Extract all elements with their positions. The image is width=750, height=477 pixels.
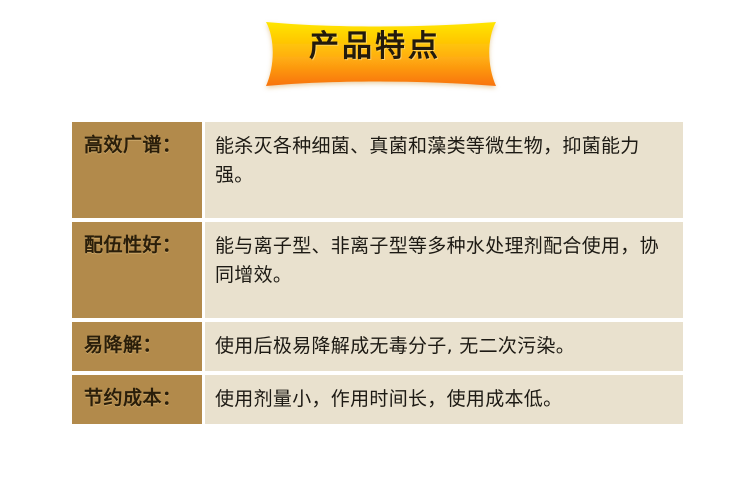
feature-label-2: 配伍性好： [72, 222, 205, 318]
feature-label-3: 易降解： [72, 322, 205, 371]
feature-text-2: 能与离子型、非离子型等多种水处理剂配合使用，协同增效。 [205, 222, 683, 318]
banner-ribbon-shape [0, 16, 750, 96]
feature-row-1: 高效广谱： 能杀灭各种细菌、真菌和藻类等微生物，抑菌能力强。 [72, 122, 683, 218]
feature-row-3: 易降解： 使用后极易降解成无毒分子, 无二次污染。 [72, 322, 683, 371]
feature-text-3: 使用后极易降解成无毒分子, 无二次污染。 [205, 322, 683, 371]
feature-row-2: 配伍性好： 能与离子型、非离子型等多种水处理剂配合使用，协同增效。 [72, 222, 683, 318]
feature-row-4: 节约成本： 使用剂量小，作用时间长，使用成本低。 [72, 375, 683, 424]
feature-label-1: 高效广谱： [72, 122, 205, 218]
feature-text-4: 使用剂量小，作用时间长，使用成本低。 [205, 375, 683, 424]
banner: 产品特点 [0, 16, 750, 96]
feature-list: 高效广谱： 能杀灭各种细菌、真菌和藻类等微生物，抑菌能力强。 配伍性好： 能与离… [72, 122, 683, 424]
feature-label-4: 节约成本： [72, 375, 205, 424]
feature-text-1: 能杀灭各种细菌、真菌和藻类等微生物，抑菌能力强。 [205, 122, 683, 218]
